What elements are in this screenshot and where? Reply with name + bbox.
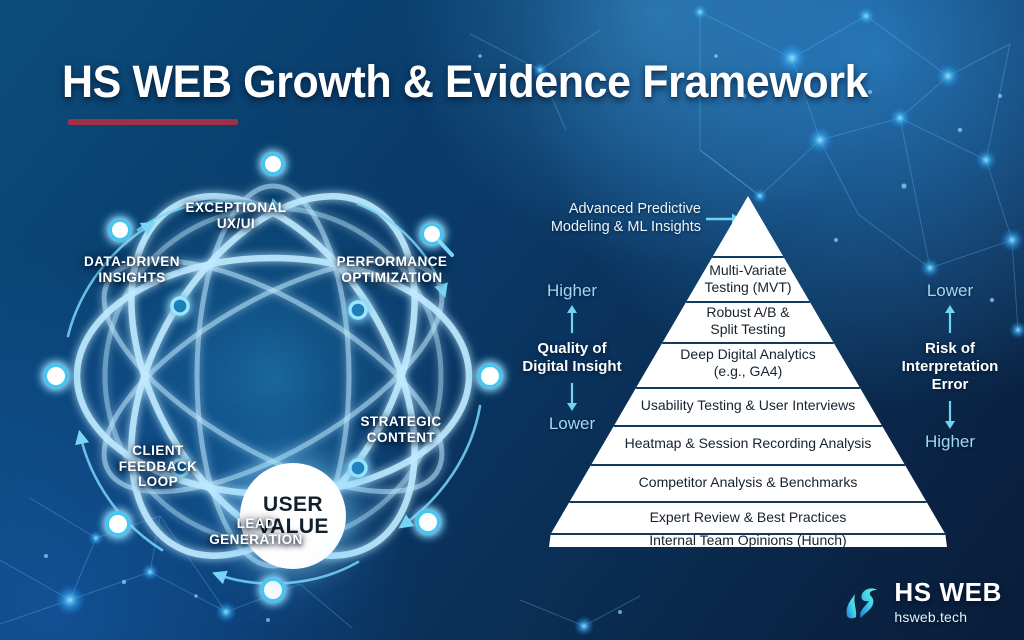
pyramid-tier-label: Usability Testing & User Interviews bbox=[628, 397, 868, 414]
core-line-2: VALUE bbox=[257, 516, 329, 538]
hs-monogram-icon bbox=[841, 584, 885, 624]
title-accent-rule bbox=[68, 119, 238, 125]
pyramid-tier-label: Heatmap & Session Recording Analysis bbox=[600, 435, 896, 452]
atom-diagram: USER VALUE EXCEPTIONAL UX/UI DATA-DRIVEN… bbox=[28, 138, 518, 613]
atom-core: USER VALUE bbox=[240, 463, 346, 569]
pyramid-tier-label: Multi-Variate Testing (MVT) bbox=[688, 262, 808, 296]
brand-name: HS WEB bbox=[894, 579, 1002, 605]
core-line-1: USER bbox=[263, 494, 323, 516]
pyramid-tier-label: Robust A/B & Split Testing bbox=[674, 304, 822, 338]
brand-logo: HS WEB hsweb.tech bbox=[841, 579, 1002, 624]
pyramid-tier-label: Expert Review & Best Practices bbox=[562, 509, 934, 526]
pyramid-tier-label: Deep Digital Analytics (e.g., GA4) bbox=[650, 346, 846, 380]
infographic-canvas: HS WEB Growth & Evidence Framework bbox=[0, 0, 1024, 640]
evidence-pyramid: Advanced Predictive Modeling & ML Insigh… bbox=[500, 150, 1024, 570]
pyramid-tier-label: Internal Team Opinions (Hunch) bbox=[546, 532, 950, 549]
page-title: HS WEB Growth & Evidence Framework bbox=[62, 56, 868, 108]
pyramid-tier-label: Competitor Analysis & Benchmarks bbox=[580, 474, 916, 491]
brand-url: hsweb.tech bbox=[894, 610, 967, 624]
